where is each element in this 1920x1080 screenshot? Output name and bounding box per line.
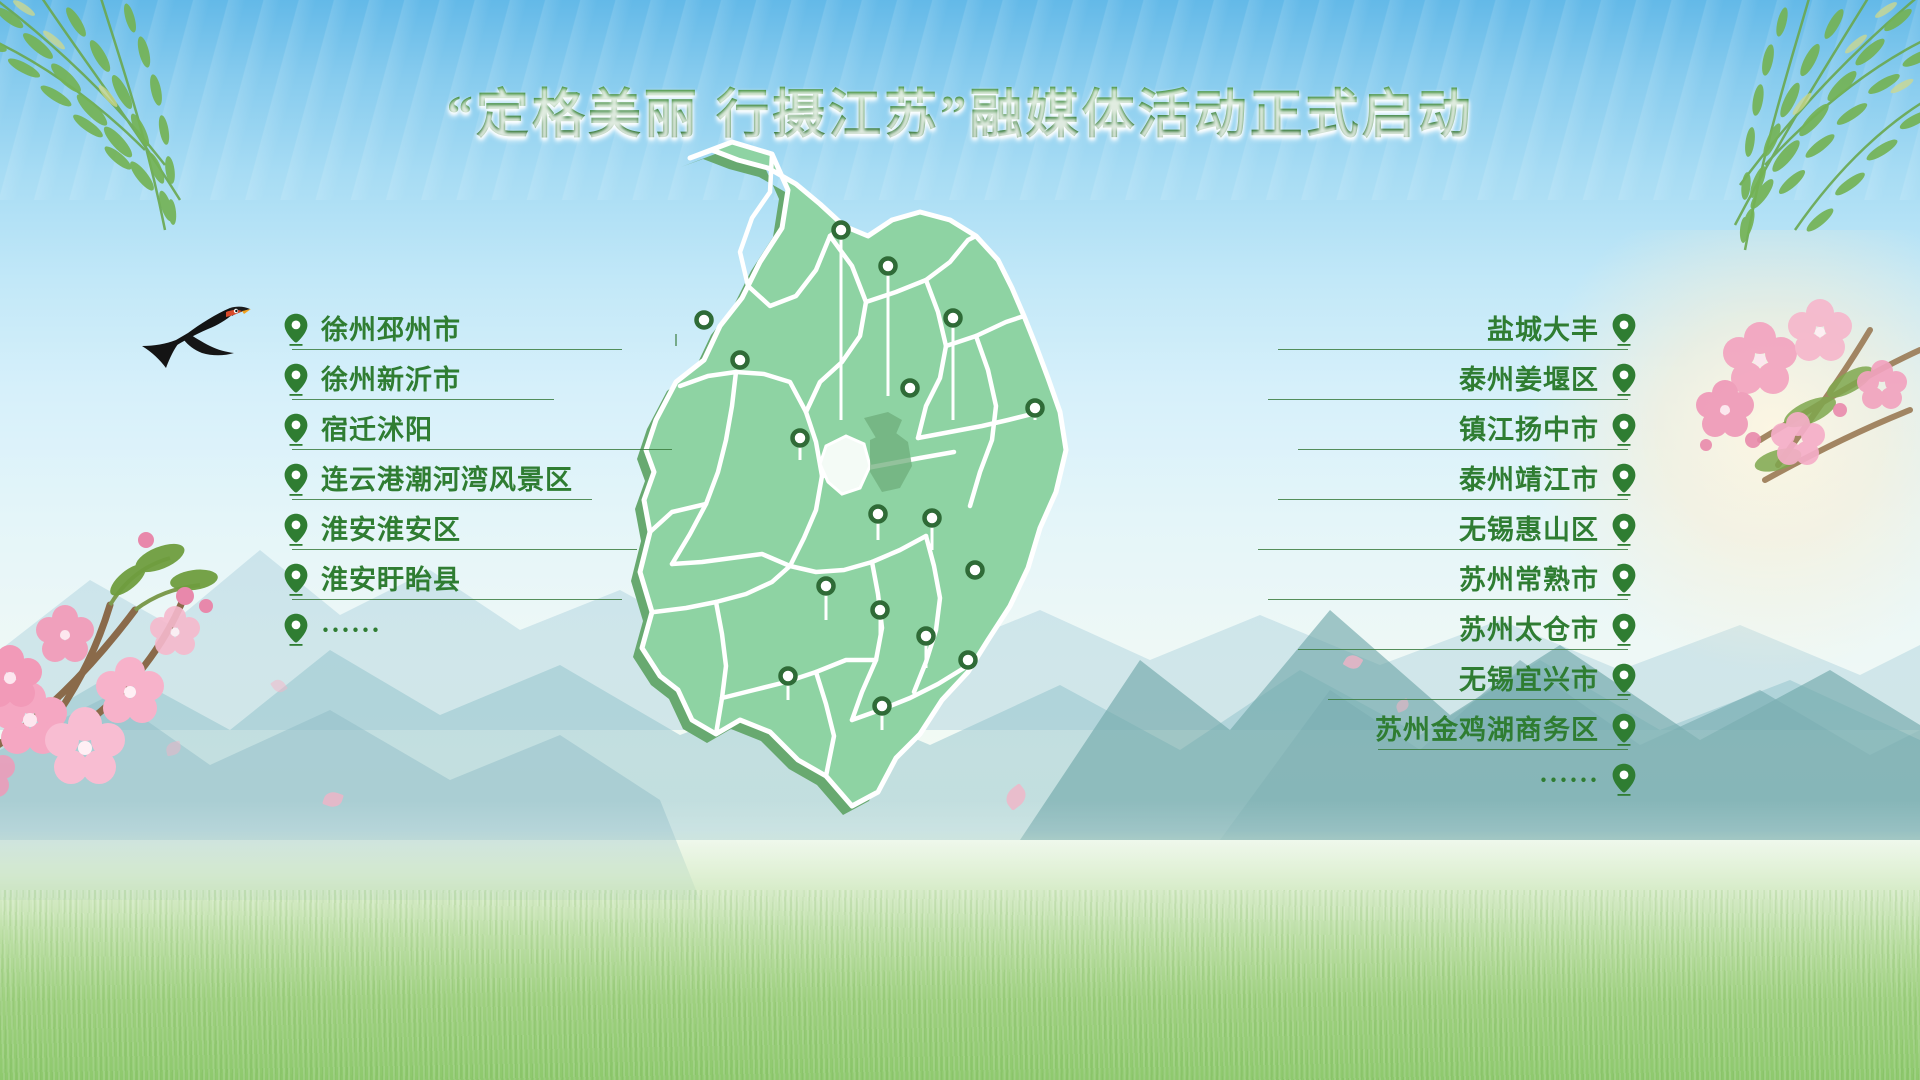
legend-leader-line bbox=[292, 499, 592, 500]
legend-item-label: 泰州靖江市 bbox=[1459, 467, 1599, 494]
poster-canvas: “定格美丽 行摄江苏”融媒体活动正式启动 bbox=[0, 0, 1920, 1080]
legend-item-label: 苏州金鸡湖商务区 bbox=[1375, 717, 1599, 744]
location-pin-icon bbox=[1611, 513, 1637, 547]
legend-item-label: 淮安盱眙县 bbox=[321, 567, 461, 594]
legend-item-label: 苏州常熟市 bbox=[1459, 567, 1599, 594]
legend-item-label: 淮安淮安区 bbox=[321, 517, 461, 544]
legend-leader-line bbox=[292, 449, 672, 450]
legend-leader-line bbox=[1268, 599, 1628, 600]
legend-item-label: 苏州太仓市 bbox=[1459, 617, 1599, 644]
legend-leader-line bbox=[1278, 349, 1628, 350]
legend-item-label: 镇江扬中市 bbox=[1459, 417, 1599, 444]
legend-item[interactable]: 无锡惠山区 bbox=[1177, 505, 1637, 555]
legend-item[interactable]: 淮安淮安区 bbox=[283, 505, 703, 555]
legend-item[interactable]: 泰州靖江市 bbox=[1177, 455, 1637, 505]
location-pin-icon bbox=[1611, 663, 1637, 697]
legend-item-label: ······ bbox=[321, 617, 381, 644]
legend-item-label: 宿迁沭阳 bbox=[321, 417, 433, 444]
legend-item[interactable]: 盐城大丰 bbox=[1177, 305, 1637, 355]
legend-leader-line bbox=[292, 549, 637, 550]
location-pin-icon bbox=[1611, 713, 1637, 747]
legend-item-label: 盐城大丰 bbox=[1487, 317, 1599, 344]
legend-item[interactable]: ······ bbox=[1177, 755, 1637, 805]
location-pin-icon bbox=[283, 413, 309, 447]
location-pin-icon bbox=[1611, 563, 1637, 597]
swallow-bird-icon bbox=[138, 300, 258, 370]
legend-item[interactable]: 连云港潮河湾风景区 bbox=[283, 455, 703, 505]
legend-item[interactable]: 宿迁沭阳 bbox=[283, 405, 703, 455]
legend-item-label: 徐州邳州市 bbox=[321, 317, 461, 344]
location-pin-icon bbox=[283, 613, 309, 647]
legend-leader-line bbox=[292, 349, 622, 350]
legend-item-label: 无锡宜兴市 bbox=[1459, 667, 1599, 694]
location-pin-icon bbox=[283, 513, 309, 547]
legend-leader-line bbox=[1258, 549, 1628, 550]
legend-leader-line bbox=[1298, 449, 1628, 450]
location-pin-icon bbox=[283, 463, 309, 497]
legend-leader-line bbox=[292, 399, 554, 400]
location-pin-icon bbox=[1611, 463, 1637, 497]
legend-leader-line bbox=[292, 599, 622, 600]
location-pin-icon bbox=[1611, 613, 1637, 647]
legend-leader-line bbox=[1278, 499, 1628, 500]
legend-leader-line bbox=[1268, 399, 1628, 400]
legend-item-label: 泰州姜堰区 bbox=[1459, 367, 1599, 394]
location-pin-icon bbox=[1611, 413, 1637, 447]
legend-item[interactable]: 徐州新沂市 bbox=[283, 355, 703, 405]
legend-item-label: 无锡惠山区 bbox=[1459, 517, 1599, 544]
legend-left: 徐州邳州市徐州新沂市宿迁沭阳连云港潮河湾风景区淮安淮安区淮安盱眙县······ bbox=[283, 305, 703, 655]
legend-right: 盐城大丰泰州姜堰区镇江扬中市泰州靖江市无锡惠山区苏州常熟市苏州太仓市无锡宜兴市苏… bbox=[1177, 305, 1637, 805]
legend-leader-line bbox=[1378, 749, 1628, 750]
location-pin-icon bbox=[283, 363, 309, 397]
legend-item[interactable]: ······ bbox=[283, 605, 703, 655]
legend-item-label: ······ bbox=[1539, 767, 1599, 794]
location-pin-icon bbox=[283, 313, 309, 347]
location-pin-icon bbox=[283, 563, 309, 597]
legend-item[interactable]: 淮安盱眙县 bbox=[283, 555, 703, 605]
legend-item[interactable]: 镇江扬中市 bbox=[1177, 405, 1637, 455]
legend-leader-line bbox=[1298, 649, 1628, 650]
location-pin-icon bbox=[1611, 363, 1637, 397]
legend-leader-line bbox=[1328, 699, 1628, 700]
legend-item[interactable]: 苏州太仓市 bbox=[1177, 605, 1637, 655]
legend-item[interactable]: 无锡宜兴市 bbox=[1177, 655, 1637, 705]
grass-texture bbox=[0, 890, 1920, 1080]
legend-item[interactable]: 苏州金鸡湖商务区 bbox=[1177, 705, 1637, 755]
location-pin-icon bbox=[1611, 313, 1637, 347]
legend-item-label: 连云港潮河湾风景区 bbox=[321, 467, 573, 494]
location-pin-icon bbox=[1611, 763, 1637, 797]
legend-item-label: 徐州新沂市 bbox=[321, 367, 461, 394]
legend-item[interactable]: 徐州邳州市 bbox=[283, 305, 703, 355]
legend-item[interactable]: 泰州姜堰区 bbox=[1177, 355, 1637, 405]
legend-item[interactable]: 苏州常熟市 bbox=[1177, 555, 1637, 605]
